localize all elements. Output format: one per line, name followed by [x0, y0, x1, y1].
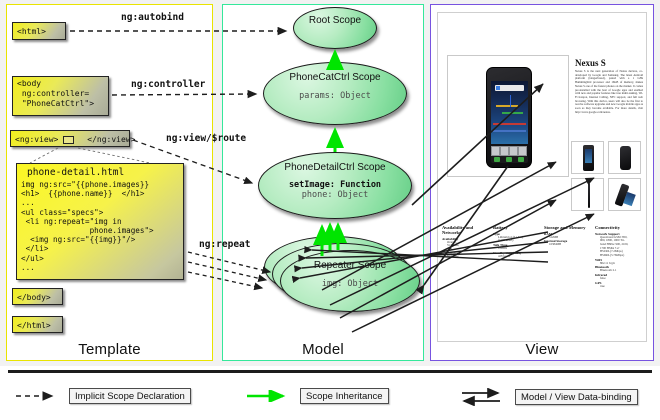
diagram-canvas: Template Model View <html> <body ng:cont… — [0, 0, 660, 420]
phone-search-bar — [495, 85, 524, 91]
connector-label-ng-autobind: ng:autobind — [121, 12, 184, 23]
phone-screen — [491, 81, 528, 144]
connector-label-ng-repeat: ng:repeat — [199, 239, 250, 250]
spec-values: 16384MB — [544, 243, 592, 247]
code-box-body-open: <body ng:controller= "PhoneCatCtrl"> — [12, 76, 109, 116]
ngview-placeholder-icon — [63, 136, 74, 144]
scope-phonedetailctrl-field-phone: phone: Object — [259, 190, 411, 200]
spec-column: Battery Type Lithium Ion (Li-Ion) (1500 … — [493, 225, 541, 289]
screen-beam-4 — [493, 123, 526, 125]
legend-double-arrow-icon — [460, 388, 508, 406]
legend-label-implicit-scope: Implicit Scope Declaration — [69, 388, 191, 404]
screen-beam-5 — [493, 130, 526, 132]
phone-app-icons — [491, 146, 528, 155]
scope-repeater: Repeater Scope img: Object — [280, 250, 420, 312]
connector-label-ng-view-route: ng:view/$route — [166, 133, 246, 144]
hero-image-box — [447, 55, 569, 177]
spec-column: Availability and Networks Availability O… — [442, 225, 490, 289]
spec-heading: Connectivity — [595, 225, 643, 230]
phone-thumbnail[interactable] — [608, 178, 641, 211]
scope-phonedetailctrl: PhoneDetailCtrl Scope setImage: Function… — [258, 152, 412, 219]
phone-hero-image — [486, 67, 532, 168]
spec-column: Connectivity Network Support Quad-band G… — [595, 225, 643, 289]
scope-repeater-field-img: img: Object — [281, 279, 419, 289]
view-rendered-page: Nexus S Nexus S is the next generation o… — [437, 12, 647, 342]
legend-item-data-binding: Model / View Data-binding — [460, 388, 638, 406]
legend-item-scope-inheritance: Scope Inheritance — [245, 388, 389, 404]
spec-values: 428 hours — [493, 255, 541, 259]
spec-heading: Battery — [493, 225, 541, 230]
code-box-html-open: <html> — [12, 22, 66, 40]
scope-phonedetailctrl-name: PhoneDetailCtrl Scope — [259, 162, 411, 174]
scope-root: Root Scope — [293, 7, 377, 49]
column-title-template: Template — [7, 341, 212, 358]
scope-root-name: Root Scope — [294, 15, 376, 27]
legend-green-arrow-icon — [245, 390, 293, 402]
phone-thumbnail[interactable] — [608, 141, 641, 174]
legend-dashed-arrow-icon — [14, 390, 62, 402]
phone-name-heading: Nexus S — [575, 58, 606, 68]
spec-column: Storage and Memory RAM 512MB Internal St… — [544, 225, 592, 289]
note-title: phone-detail.html — [17, 164, 183, 180]
scope-phonedetailctrl-field-setimage: setImage: Function — [259, 180, 411, 190]
phone-thumbnail[interactable] — [571, 178, 604, 211]
note-phone-detail-template: phone-detail.html img ng:src="{{phone.im… — [16, 163, 184, 280]
note-code: img ng:src="{{phone.images}} <h1> {{phon… — [17, 180, 183, 272]
legend-item-implicit-scope: Implicit Scope Declaration — [14, 388, 191, 404]
legend-label-data-binding: Model / View Data-binding — [515, 389, 638, 405]
spec-heading: Availability and Networks — [442, 225, 490, 235]
column-title-view: View — [431, 341, 653, 358]
scope-phonecatctrl-name: PhoneCatCtrl Scope — [264, 72, 406, 84]
legend-divider — [8, 370, 652, 373]
scope-phonecatctrl: PhoneCatCtrl Scope params: Object — [263, 62, 407, 125]
screen-beam-2 — [502, 112, 523, 114]
phone-description: Nexus S is the next generation of Nexus … — [575, 70, 643, 114]
phone-thumbnail[interactable] — [571, 141, 604, 174]
spec-values: true — [595, 285, 643, 289]
column-title-model: Model — [223, 341, 423, 358]
screen-beam-1 — [496, 105, 518, 107]
legend-label-scope-inheritance: Scope Inheritance — [300, 388, 389, 404]
scope-phonecatctrl-field-params: params: Object — [264, 91, 406, 101]
connector-label-ng-controller: ng:controller — [131, 79, 205, 90]
code-box-body-close: </body> — [12, 288, 63, 305]
screen-beam-3 — [510, 95, 512, 107]
legend: Implicit Scope Declaration Scope Inherit… — [0, 366, 660, 420]
spec-values: Vodafone — [442, 255, 490, 259]
phone-spec-table: Availability and Networks Availability O… — [442, 225, 644, 289]
phone-dock — [491, 156, 528, 163]
phone-thumbnail-list — [571, 141, 645, 211]
spec-heading: Storage and Memory — [544, 225, 592, 230]
code-box-html-close: </html> — [12, 316, 63, 333]
scope-repeater-name: Repeater Scope — [281, 260, 419, 272]
